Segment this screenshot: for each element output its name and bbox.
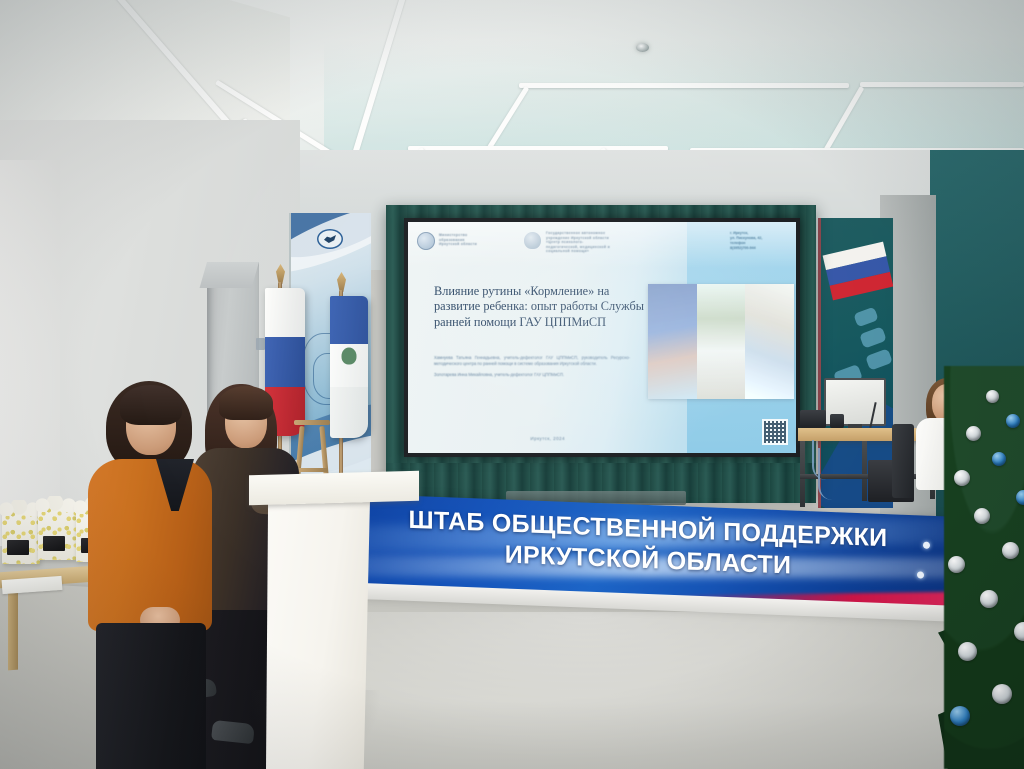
irkutsk-coat-of-arms-icon xyxy=(342,347,357,364)
gift-bag-ruffle xyxy=(36,496,78,512)
russian-flag-graphic xyxy=(823,242,893,301)
door-sign xyxy=(256,338,265,350)
room-photo-scene: Министерство образования Иркутской облас… xyxy=(0,0,1024,769)
slide-photo-collage xyxy=(648,284,794,399)
slide-contact-info: г. Иркутск, ул. Пискунова, 42, телефон 8… xyxy=(730,231,790,251)
tree-ornament xyxy=(948,556,965,573)
tree-ornament xyxy=(958,642,977,661)
ministry-logo-icon xyxy=(417,232,435,250)
projection-screen: Министерство образования Иркутской облас… xyxy=(404,218,800,457)
tree-ornament xyxy=(992,684,1012,704)
tree-ornament xyxy=(966,426,981,441)
hair-front xyxy=(120,385,182,425)
tree-ornament xyxy=(954,470,970,486)
christmas-tree xyxy=(944,366,1024,769)
tree-ornament xyxy=(974,508,990,524)
panel-dash xyxy=(865,348,893,370)
org-logo-icon xyxy=(524,232,541,249)
banner-dot xyxy=(923,542,930,549)
desk-frame xyxy=(862,441,867,501)
doorway-header xyxy=(200,262,259,288)
tree-ornament xyxy=(950,706,970,726)
tree-ornament xyxy=(980,590,998,608)
av-equipment xyxy=(830,414,844,428)
tree-ornament xyxy=(1016,490,1024,505)
panel-dash xyxy=(853,307,878,328)
org-logo-text: Государственное автономное учреждение Ир… xyxy=(546,231,636,254)
qr-code-icon xyxy=(762,419,788,445)
slide-footer: Иркутск, 2024 xyxy=(408,436,687,441)
gift-bag-tag xyxy=(43,536,65,551)
projection-screen-area: Министерство образования Иркутской облас… xyxy=(386,205,816,495)
av-equipment xyxy=(800,410,826,428)
ministry-logo-text: Министерство образования Иркутской облас… xyxy=(439,233,501,247)
slide-authors: Хамнуева Татьяна Геннадьевна, учитель-де… xyxy=(434,355,630,377)
tree-ornament xyxy=(992,452,1006,466)
gift-bag-tag xyxy=(7,540,29,555)
tree-ornament xyxy=(986,390,999,403)
podium-top xyxy=(249,471,419,505)
gift-bag xyxy=(38,502,76,560)
orange-sweater xyxy=(88,459,212,631)
person-speaker-orange xyxy=(112,385,272,769)
irkutsk-emblem-icon xyxy=(317,229,343,249)
cable xyxy=(818,448,834,500)
panel-dash xyxy=(859,326,887,348)
tree-ornament xyxy=(1002,542,1019,559)
podium xyxy=(266,500,370,769)
floor-reflection xyxy=(330,612,970,762)
presentation-slide: Министерство образования Иркутской облас… xyxy=(408,222,796,453)
banner-dot xyxy=(917,571,924,578)
gift-bag xyxy=(2,506,40,564)
office-chair[interactable] xyxy=(892,424,914,498)
slide-title: Влияние рутины «Кормление» на развитие р… xyxy=(434,284,644,330)
tree-ornament xyxy=(1006,414,1020,428)
black-trousers xyxy=(96,623,206,769)
